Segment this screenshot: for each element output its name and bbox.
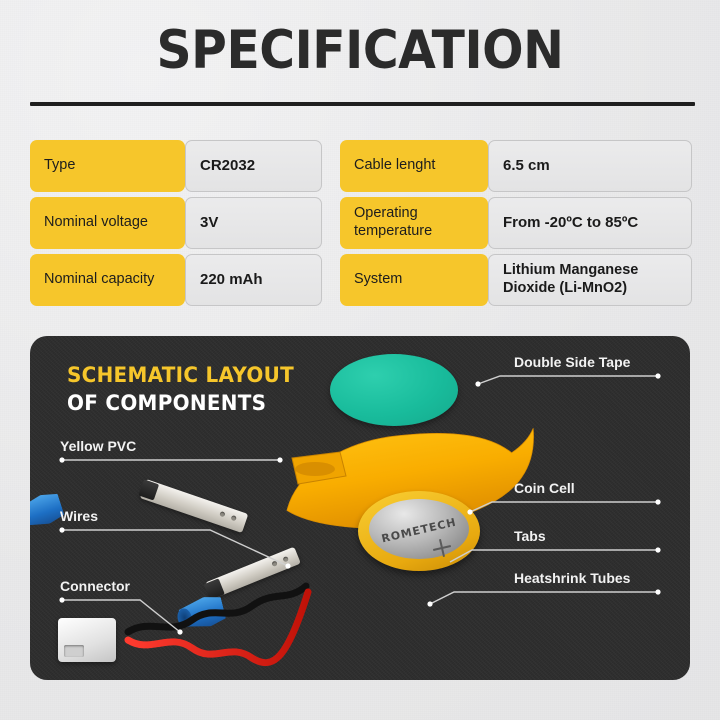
- callout-yellow-pvc: Yellow PVC: [60, 438, 136, 454]
- spec-label-system: System: [340, 254, 488, 306]
- callout-connector: Connector: [60, 578, 130, 594]
- leader-anchor-dot: [277, 457, 282, 462]
- spec-value-system: Lithium Manganese Dioxide (Li-MnO2): [488, 254, 692, 306]
- title-divider: [30, 102, 695, 106]
- leader-anchor-dot: [467, 509, 472, 514]
- callout-wires: Wires: [60, 508, 98, 524]
- schematic-panel: SCHEMATIC LAYOUT OF COMPONENTS: [30, 336, 690, 680]
- callout-coin-cell: Coin Cell: [514, 480, 575, 496]
- spec-value-type: CR2032: [185, 140, 322, 192]
- leader-connector: [62, 600, 180, 632]
- leader-anchor-dot: [427, 601, 432, 606]
- leader-dot: [59, 597, 64, 602]
- spec-value-nominal-voltage: 3V: [185, 197, 322, 249]
- leader-dot: [59, 527, 64, 532]
- column-gap: [322, 140, 340, 192]
- leader-dot: [655, 589, 660, 594]
- spec-value-operating-temperature: From -20ºC to 85ºC: [488, 197, 692, 249]
- leader-dot: [655, 499, 660, 504]
- page-title: SPECIFICATION: [29, 24, 691, 77]
- column-gap: [322, 197, 340, 249]
- leader-anchor-dot: [285, 563, 290, 568]
- callout-leader-lines: [30, 336, 690, 680]
- specification-table: Type CR2032 Cable lenght 6.5 cm Nominal …: [30, 140, 692, 305]
- spec-label-nominal-capacity: Nominal capacity: [30, 254, 185, 306]
- spec-value-nominal-capacity: 220 mAh: [185, 254, 322, 306]
- spec-label-cable-lenght: Cable lenght: [340, 140, 488, 192]
- leader-anchor-dot: [475, 381, 480, 386]
- leader-dot: [59, 457, 64, 462]
- leader-wires: [62, 530, 288, 566]
- callout-double-side-tape: Double Side Tape: [514, 354, 630, 370]
- column-gap: [322, 254, 340, 306]
- leader-heatshrink-tubes: [430, 592, 658, 604]
- callout-tabs: Tabs: [514, 528, 546, 544]
- leader-dot: [655, 547, 660, 552]
- leader-anchor-dot: [177, 629, 182, 634]
- leader-coin-cell: [470, 502, 658, 512]
- spec-value-cable-lenght: 6.5 cm: [488, 140, 692, 192]
- leader-dot: [655, 373, 660, 378]
- spec-label-operating-temperature: Operating temperature: [340, 197, 488, 249]
- leader-tabs: [450, 550, 658, 562]
- leader-double-side-tape: [478, 376, 658, 384]
- spec-label-type: Type: [30, 140, 185, 192]
- spec-label-nominal-voltage: Nominal voltage: [30, 197, 185, 249]
- callout-heatshrink-tubes: Heatshrink Tubes: [514, 570, 630, 586]
